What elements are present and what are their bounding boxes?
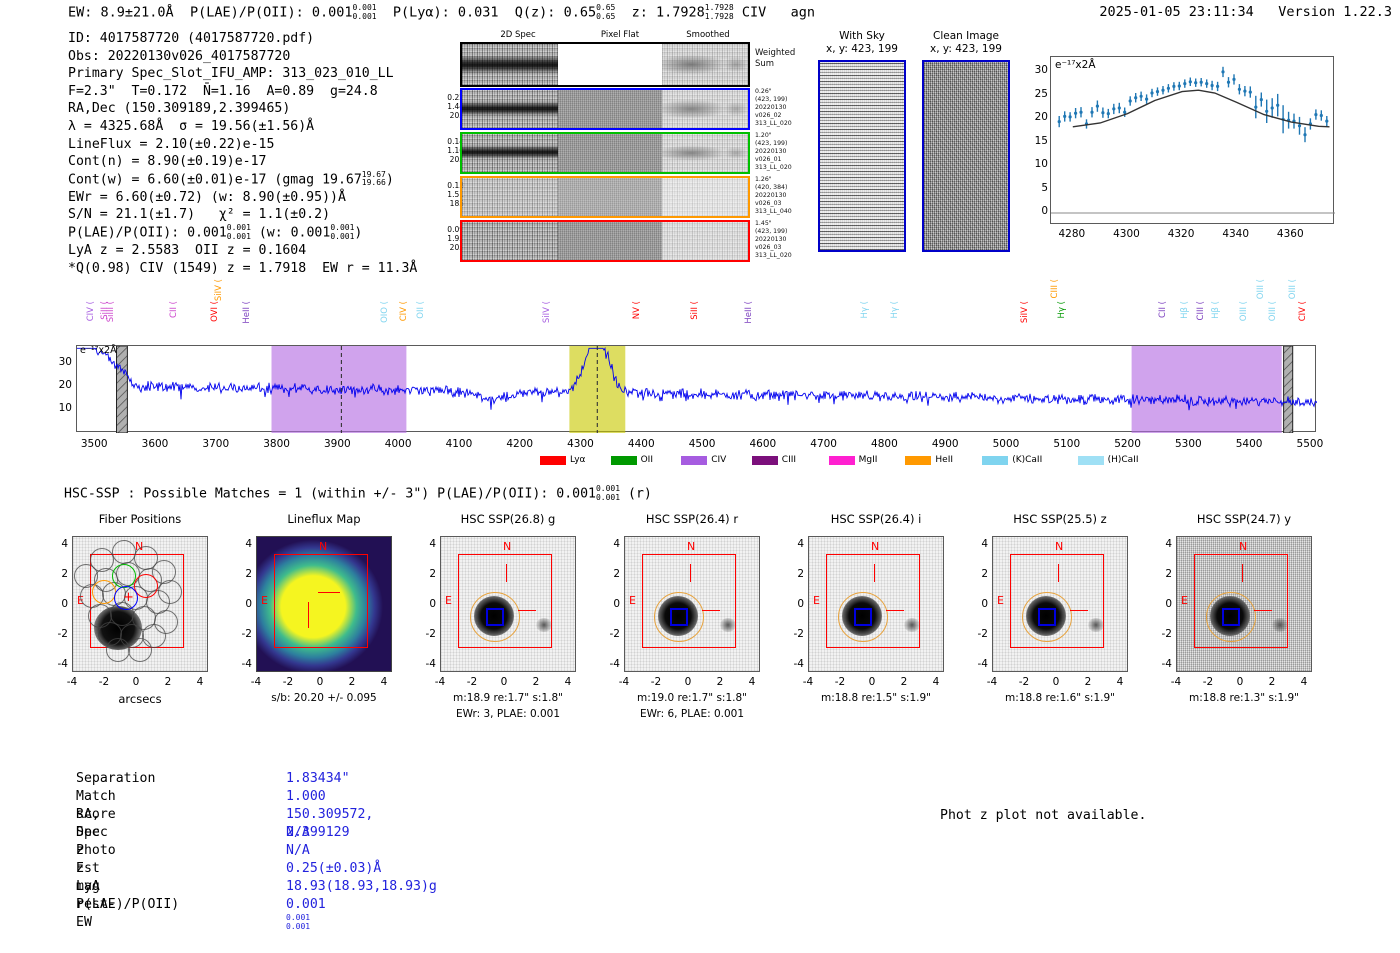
spectrum-xtick: 4400 [619,438,663,450]
info-id: ID: 4017587720 (4017587720.pdf) [68,30,417,48]
crosshair-vertical [690,564,691,582]
hsc-ytick: 2 [234,568,252,580]
hsc-ytick: -2 [1154,628,1172,640]
header-z: z: 1.7928 [632,5,705,21]
catalog-marker [1222,608,1240,626]
spectrum-ytick: 30 [48,356,72,368]
zoom-ytick: 25 [1028,88,1048,100]
fiber-circle-highlighted[interactable] [112,564,136,588]
hsc-xtick: 4 [738,676,766,688]
match-table-value: N/A [286,824,310,842]
spectrum-ytick: 20 [48,379,72,391]
hsc-ytick: -4 [50,658,68,670]
match-table-value: 0.0010.0010.001 [286,896,326,933]
spectrum-xtick: 5400 [1227,438,1271,450]
info-cont-n: Cont(n) = 8.90(±0.19)e-17 [68,153,417,171]
zoom-ytick: 15 [1028,135,1048,147]
hsc-ytick: -4 [786,658,804,670]
cutout-row-weighted-sum [460,42,750,87]
spectrum-line-marker: CII ( [169,301,179,318]
match-table-value: 1.83434" [286,770,350,788]
cutout-weighted-sum-label: Weighted Sum [755,48,795,70]
legend-swatch [540,456,566,465]
info-lineflux: LineFlux = 2.10(±0.22)e-15 [68,136,417,154]
header-qz: Q(z): 0.65 [515,5,596,21]
catalog-marker [1038,608,1056,626]
legend-swatch [829,456,855,465]
header-plae-label: P(LAE)/P(OII): 0.001 [190,5,353,21]
zoom-ytick: 0 [1028,205,1048,217]
hsc-caption-secondary: EWr: 6, PLAE: 0.001 [598,708,786,720]
spectrum-xtick: 3600 [133,438,177,450]
hsc-caption-primary: m:18.8 re:1.5" s:1.9" [782,692,970,704]
hsc-ytick: 4 [602,538,620,550]
hsc-ytick: 0 [234,598,252,610]
with-sky-image [818,60,906,252]
hsc-xtick: -2 [1194,676,1222,688]
crosshair-horizontal [318,592,340,593]
spectrum-xtick: 4800 [862,438,906,450]
catalog-marker [854,608,872,626]
compass-n: N [1055,540,1063,553]
hsc-panel-title: HSC SSP(26.4) r [600,512,784,526]
spectrum-xtick: 4200 [498,438,542,450]
cutout-2dspec-weighted [462,44,558,85]
cutout-col-title-pixelflat: Pixel Flat [580,30,660,40]
info-obs: Obs: 20220130v026_4017587720 [68,48,417,66]
legend-label: (K)CaII [1012,455,1042,465]
hsc-xtick: -4 [58,676,86,688]
neighbour-blob [1272,618,1288,632]
hsc-ytick: 4 [234,538,252,550]
legend-label: CIII [782,455,796,465]
compass-e: E [629,594,636,607]
info-q-solution: *Q(0.98) CIV (1549) z = 1.7918 EW r = 11… [68,260,417,278]
spectrum-xtick: 4600 [741,438,785,450]
cutout-pixelflat-weighted [558,44,662,85]
timestamp: 2025-01-05 23:11:34 [1099,4,1253,20]
compass-e: E [445,594,452,607]
hsc-xtick: 4 [1106,676,1134,688]
spectrum-line-marker: Hγ ( [860,301,870,318]
hsc-panel-title: HSC SSP(26.4) i [784,512,968,526]
legend-swatch [681,456,707,465]
spectrum-line-marker: CIII ( [1050,279,1060,298]
hsc-xtick: 0 [306,676,334,688]
compass-n: N [1239,540,1247,553]
hsc-xtick: 0 [1226,676,1254,688]
hsc-xtick: 4 [186,676,214,688]
header-classification: agn [791,5,815,21]
spectrum-line-marker: SiIV ( [1020,301,1030,323]
hsc-xtick: -4 [242,676,270,688]
hsc-xtick: 0 [490,676,518,688]
hsc-ytick: -2 [50,628,68,640]
header-qz-bounds: 0.650.65 [596,4,615,21]
hsc-ytick: 4 [50,538,68,550]
compass-e: E [261,594,268,607]
neighbour-blob [536,618,552,632]
info-redshifts: LyA z = 2.5583 OII z = 0.1604 [68,242,417,260]
hsc-ytick: 4 [418,538,436,550]
info-cont-w: Cont(w) = 6.60(±0.01)e-17 (gmag 19.6719.… [68,171,417,189]
match-table-key: P(LAE)/P(OII) [76,896,179,914]
legend-label: (H)CaII [1108,455,1139,465]
spectrum-line-marker: SiIV ( [214,279,224,301]
cutout-smoothed-weighted [662,44,748,85]
spectrum-xtick: 4100 [437,438,481,450]
hsc-ytick: 0 [418,598,436,610]
hsc-ytick: -4 [970,658,988,670]
hsc-aperture-box [274,554,368,648]
spectrum-line-marker: OVI ( [210,301,220,322]
spectrum-line-marker: CIII ( [1196,301,1206,320]
hsc-xtick: 2 [522,676,550,688]
version-label: Version 1.22.3 [1278,4,1392,20]
crosshair-horizontal [702,610,720,611]
header-z-bounds: 1.79281.7928 [705,4,734,21]
photz-note: Phot z plot not available. [940,808,1146,823]
spectrum-ytick: 10 [48,402,72,414]
info-plae: P(LAE)/P(OII): 0.0010.0010.001 (w: 0.001… [68,224,417,242]
hsc-ytick: 2 [50,568,68,580]
legend-swatch [1078,456,1104,465]
cutout-row-1-info: 1.20"(423, 199) 20220130v026_01 313_LL_0… [755,132,792,172]
crosshair-vertical [874,564,875,582]
hsc-panel-title: Lineflux Map [232,512,416,526]
spectrum-line-marker: OIII ( [1268,301,1278,321]
hsc-xlabel: arcsecs [72,692,208,706]
hsc-xtick: 4 [922,676,950,688]
info-primary-spec: Primary Spec_Slot_IFU_AMP: 313_023_010_L… [68,65,417,83]
zoom-ytick: 10 [1028,158,1048,170]
crosshair-vertical [506,564,507,582]
source-info-block: ID: 4017587720 (4017587720.pdf) Obs: 202… [68,30,417,277]
info-ewr: EWr = 6.60(±0.72) (w: 8.90(±0.95))Å [68,189,417,207]
header-summary-line: EW: 8.9±21.0Å P(LAE)/P(OII): 0.0010.0010… [68,4,815,21]
cutout-row-0-info: 0.26"(423, 199) 20220130v026_02 313_LL_0… [755,88,792,128]
spectrum-xtick: 5200 [1106,438,1150,450]
spectrum-xtick: 4900 [923,438,967,450]
crosshair-vertical [1058,564,1059,582]
info-snr: S/N = 21.1(±1.7) χ² = 1.1(±0.2) [68,206,417,224]
header-plya: P(Lyα): 0.031 [393,5,499,21]
catalog-marker [670,608,688,626]
hsc-xtick: -2 [1010,676,1038,688]
compass-e: E [1181,594,1188,607]
hsc-caption-primary: m:18.9 re:1.7" s:1.8" [414,692,602,704]
hsc-xtick: 2 [338,676,366,688]
crosshair-horizontal [1254,610,1272,611]
hsc-ytick: 0 [602,598,620,610]
hsc-xtick: -2 [642,676,670,688]
cutout-row-3-box [460,220,750,262]
zoom-plot-svg [1051,57,1335,225]
hsc-ytick: 0 [970,598,988,610]
zoom-xtick: 4360 [1272,228,1308,240]
compass-n: N [871,540,879,553]
legend-label: HeII [935,455,953,465]
match-table-value: N/A [286,842,310,860]
compass-e: E [997,594,1004,607]
zoom-ytick: 5 [1028,182,1048,194]
spectrum-line-marker: OIII ( [1239,301,1249,321]
hsc-ytick: 2 [602,568,620,580]
neighbour-blob [1088,618,1104,632]
hsc-xtick: 0 [858,676,886,688]
hsc-ytick: -2 [970,628,988,640]
zoom-xtick: 4340 [1218,228,1254,240]
zoom-plot-units: e⁻¹⁷x2Å [1055,59,1096,71]
spectrum-line-marker: Hβ ( [1211,301,1221,319]
hsc-ytick: 2 [1154,568,1172,580]
spectrum-xtick: 3900 [315,438,359,450]
legend-label: MgII [859,455,878,465]
header-ew: EW: 8.9±21.0Å [68,5,174,21]
spectrum-xtick: 4000 [376,438,420,450]
spectrum-svg [77,346,1317,433]
hsc-xtick: 4 [1290,676,1318,688]
spectrum-line-marker: Hβ ( [1180,301,1190,319]
spectrum-units: e⁻¹⁷x2Å [80,345,117,356]
legend-label: CIV [711,455,726,465]
spectrum-line-marker: Hγ ( [890,301,900,318]
match-table-value: 1.000 [286,788,326,806]
hsc-xtick: -4 [610,676,638,688]
hsc-ytick: -2 [786,628,804,640]
hsc-caption-primary: m:19.0 re:1.7" s:1.8" [598,692,786,704]
zoom-plot-axes: e⁻¹⁷x2Å [1050,56,1334,224]
cutout-row-2-box [460,176,750,218]
spectrum-line-marker: CIV ( [1298,301,1308,321]
crosshair-vertical [308,602,309,628]
hsc-ytick: -4 [418,658,436,670]
crosshair-vertical [1242,564,1243,582]
spectrum-xtick: 4700 [802,438,846,450]
hsc-xtick: -4 [794,676,822,688]
hsc-caption-primary: m:18.8 re:1.3" s:1.9" [1150,692,1338,704]
spectrum-line-marker: SiII ( [690,301,700,320]
hsc-ytick: 0 [1154,598,1172,610]
hsc-ytick: 0 [50,598,68,610]
spectrum-line-marker: OIO ( [380,301,390,323]
legend-label: OII [641,455,653,465]
match-table-key: Separation [76,770,155,788]
fiber-circle[interactable] [112,540,136,564]
hsc-ytick: -4 [1154,658,1172,670]
crosshair-horizontal [886,610,904,611]
zoom-xtick: 4320 [1163,228,1199,240]
hsc-xtick: 2 [1074,676,1102,688]
spectrum-line-marker: OIII ( [1256,279,1266,299]
match-table-key: mag [76,878,100,896]
match-table-value: 18.93(18.93,18.93)g [286,878,437,896]
info-wavelength: λ = 4325.68Å σ = 19.56(±1.56)Å [68,118,417,136]
spectrum-line-marker: OIII ( [1288,279,1298,299]
spectrum-line-marker: SiIII ( [106,301,116,322]
spectrum-xtick: 4300 [559,438,603,450]
spectrum-line-marker: OII ( [416,301,426,319]
hsc-panel-title: HSC SSP(26.8) g [416,512,600,526]
spectrum-line-marker: Hγ ( [1057,301,1067,318]
legend-label: Lyα [570,455,585,465]
cutout-row-0-box [460,88,750,130]
hsc-xtick: -4 [1162,676,1190,688]
cutout-row-3-info: 1.45"(423, 199) 20220130v026_03 313_LL_0… [755,220,792,260]
hsc-xtick: 2 [154,676,182,688]
fiber-circle[interactable] [106,638,130,662]
hsc-xtick: 0 [1042,676,1070,688]
spectrum-line-marker: CIV ( [399,301,409,321]
hsc-xtick: -2 [274,676,302,688]
hsc-caption-primary: s/b: 20.20 +/- 0.095 [230,692,418,704]
hsc-xtick: 0 [122,676,150,688]
cutout-row-1-box [460,132,750,174]
compass-n: N [503,540,511,553]
hsc-xtick: 4 [554,676,582,688]
match-table-value: 0.25(±0.03)Å [286,860,381,878]
zoom-ytick: 30 [1028,64,1048,76]
hsc-ytick: -4 [234,658,252,670]
hsc-xtick: -2 [458,676,486,688]
hsc-ytick: 4 [970,538,988,550]
cutout-col-title-2dspec: 2D Spec [478,30,558,40]
spectrum-xtick: 4500 [680,438,724,450]
fiber-circle-highlighted[interactable] [92,580,116,604]
zoom-xtick: 4280 [1054,228,1090,240]
hsc-ytick: 2 [970,568,988,580]
hsc-ytick: 2 [786,568,804,580]
hsc-panel-title: Fiber Positions [48,512,232,526]
spectrum-line-marker: CIV ( [86,301,96,321]
zoom-xtick: 4300 [1108,228,1144,240]
catalog-marker [486,608,504,626]
hsc-xtick: -2 [90,676,118,688]
legend-swatch [905,456,931,465]
hsc-ytick: -2 [418,628,436,640]
fiber-circle[interactable] [128,638,152,662]
compass-n: N [687,540,695,553]
spectrum-axes: e⁻¹⁷x2Å [76,345,1316,432]
neighbour-blob [720,618,736,632]
spectrum-line-marker: HeII ( [744,301,754,324]
hsc-header: HSC-SSP : Possible Matches = 1 (within +… [64,485,652,502]
cutout-col-title-smoothed: Smoothed [668,30,748,40]
spectrum-xtick: 5100 [1045,438,1089,450]
compass-e: E [813,594,820,607]
version-stamp: 2025-01-05 23:11:34 Version 1.22.3 [1099,4,1392,20]
hsc-xtick: 2 [890,676,918,688]
hsc-xtick: 2 [1258,676,1286,688]
hsc-xtick: -2 [826,676,854,688]
hsc-panel-title: HSC SSP(24.7) y [1152,512,1336,526]
hsc-ytick: -4 [602,658,620,670]
legend-swatch [752,456,778,465]
zoom-ytick: 20 [1028,111,1048,123]
crosshair-horizontal [1070,610,1088,611]
hsc-xtick: 2 [706,676,734,688]
spectrum-xtick: 3800 [255,438,299,450]
hsc-xtick: 0 [674,676,702,688]
spectrum-xtick: 3500 [72,438,116,450]
spectrum-xtick: 3700 [194,438,238,450]
hsc-panel-title: HSC SSP(25.5) z [968,512,1152,526]
cutout-row-2-info: 1.26"(420, 384) 20220130v026_03 313_LL_0… [755,176,792,216]
spectrum-xtick: 5000 [984,438,1028,450]
header-plae-bounds: 0.0010.001 [353,4,377,21]
hsc-ytick: -2 [602,628,620,640]
hsc-xtick: -4 [978,676,1006,688]
info-fwhm: F=2.3" T=0.172 N̄=1.16 A=0.89 g=24.8 [68,83,417,101]
hsc-caption-secondary: EWr: 3, PLAE: 0.001 [414,708,602,720]
spectrum-xtick: 5300 [1166,438,1210,450]
hsc-ytick: 0 [786,598,804,610]
spectrum-line-marker: NV ( [632,301,642,319]
neighbour-blob [904,618,920,632]
compass-n: N [319,540,327,553]
hsc-xtick: 4 [370,676,398,688]
spectrum-line-marker: CII ( [1158,301,1168,318]
hsc-ytick: 4 [1154,538,1172,550]
legend-swatch [611,456,637,465]
crosshair-horizontal [518,610,536,611]
hsc-ytick: -2 [234,628,252,640]
spectrum-line-marker: HeII ( [242,301,252,324]
info-radec: RA,Dec (150.309189,2.399465) [68,100,417,118]
with-sky-title: With Skyx, y: 423, 199 [812,30,912,56]
clean-image [922,60,1010,252]
header-line-id: CIV [742,5,766,21]
clean-image-title: Clean Imagex, y: 423, 199 [916,30,1016,56]
target-cross: + [123,590,134,605]
hsc-ytick: 4 [786,538,804,550]
spectrum-xtick: 5500 [1288,438,1332,450]
spectrum-line-marker: SiIV ( [542,301,552,323]
legend-swatch [982,456,1008,465]
hsc-xtick: -4 [426,676,454,688]
hsc-ytick: 2 [418,568,436,580]
hsc-caption-primary: m:18.8 re:1.6" s:1.9" [966,692,1154,704]
